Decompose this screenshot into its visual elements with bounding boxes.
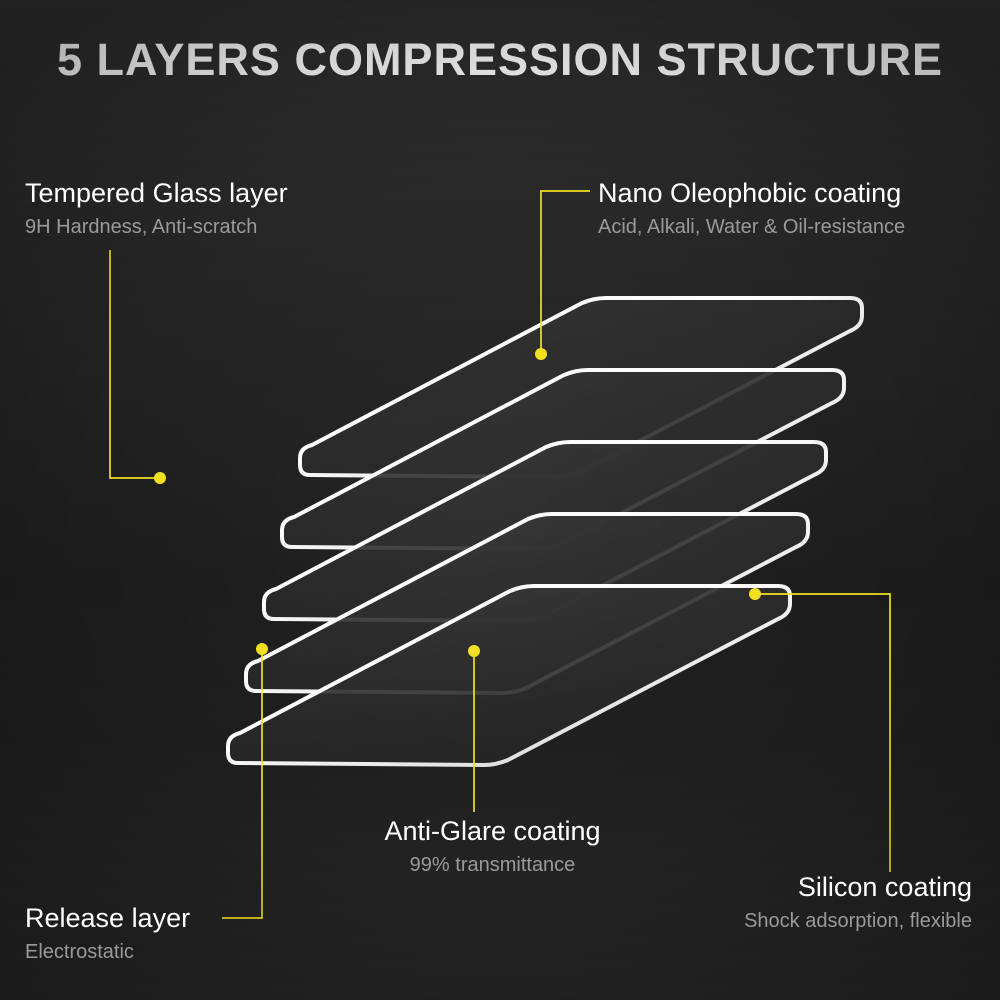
callout-dot-nano-oleophobic: [535, 348, 547, 360]
callout-title-silicon: Silicon coating: [744, 872, 972, 904]
callout-title-tempered-glass: Tempered Glass layer: [25, 178, 288, 210]
callout-dot-silicon: [749, 588, 761, 600]
callout-dot-anti-glare: [468, 645, 480, 657]
callout-title-nano-oleophobic: Nano Oleophobic coating: [598, 178, 905, 210]
callout-subtitle-anti-glare: 99% transmittance: [360, 851, 625, 879]
callout-title-anti-glare: Anti-Glare coating: [360, 816, 625, 848]
callout-release: Release layer Electrostatic: [25, 903, 190, 966]
callout-anti-glare: Anti-Glare coating 99% transmittance: [360, 816, 625, 879]
callout-subtitle-release: Electrostatic: [25, 938, 190, 966]
leader-line-silicon: [758, 594, 890, 872]
callout-subtitle-silicon: Shock adsorption, flexible: [744, 907, 972, 935]
callout-silicon: Silicon coating Shock adsorption, flexib…: [744, 872, 972, 935]
callout-title-release: Release layer: [25, 903, 190, 935]
callout-dot-tempered-glass: [154, 472, 166, 484]
callout-nano-oleophobic: Nano Oleophobic coating Acid, Alkali, Wa…: [598, 178, 905, 241]
callout-tempered-glass: Tempered Glass layer 9H Hardness, Anti-s…: [25, 178, 288, 241]
callout-dot-release: [256, 643, 268, 655]
leader-line-tempered-glass: [110, 250, 157, 478]
callout-subtitle-nano-oleophobic: Acid, Alkali, Water & Oil-resistance: [598, 213, 905, 241]
infographic-canvas: 5 LAYERS COMPRESSION STRUCTURE: [0, 0, 1000, 1000]
callout-subtitle-tempered-glass: 9H Hardness, Anti-scratch: [25, 213, 288, 241]
